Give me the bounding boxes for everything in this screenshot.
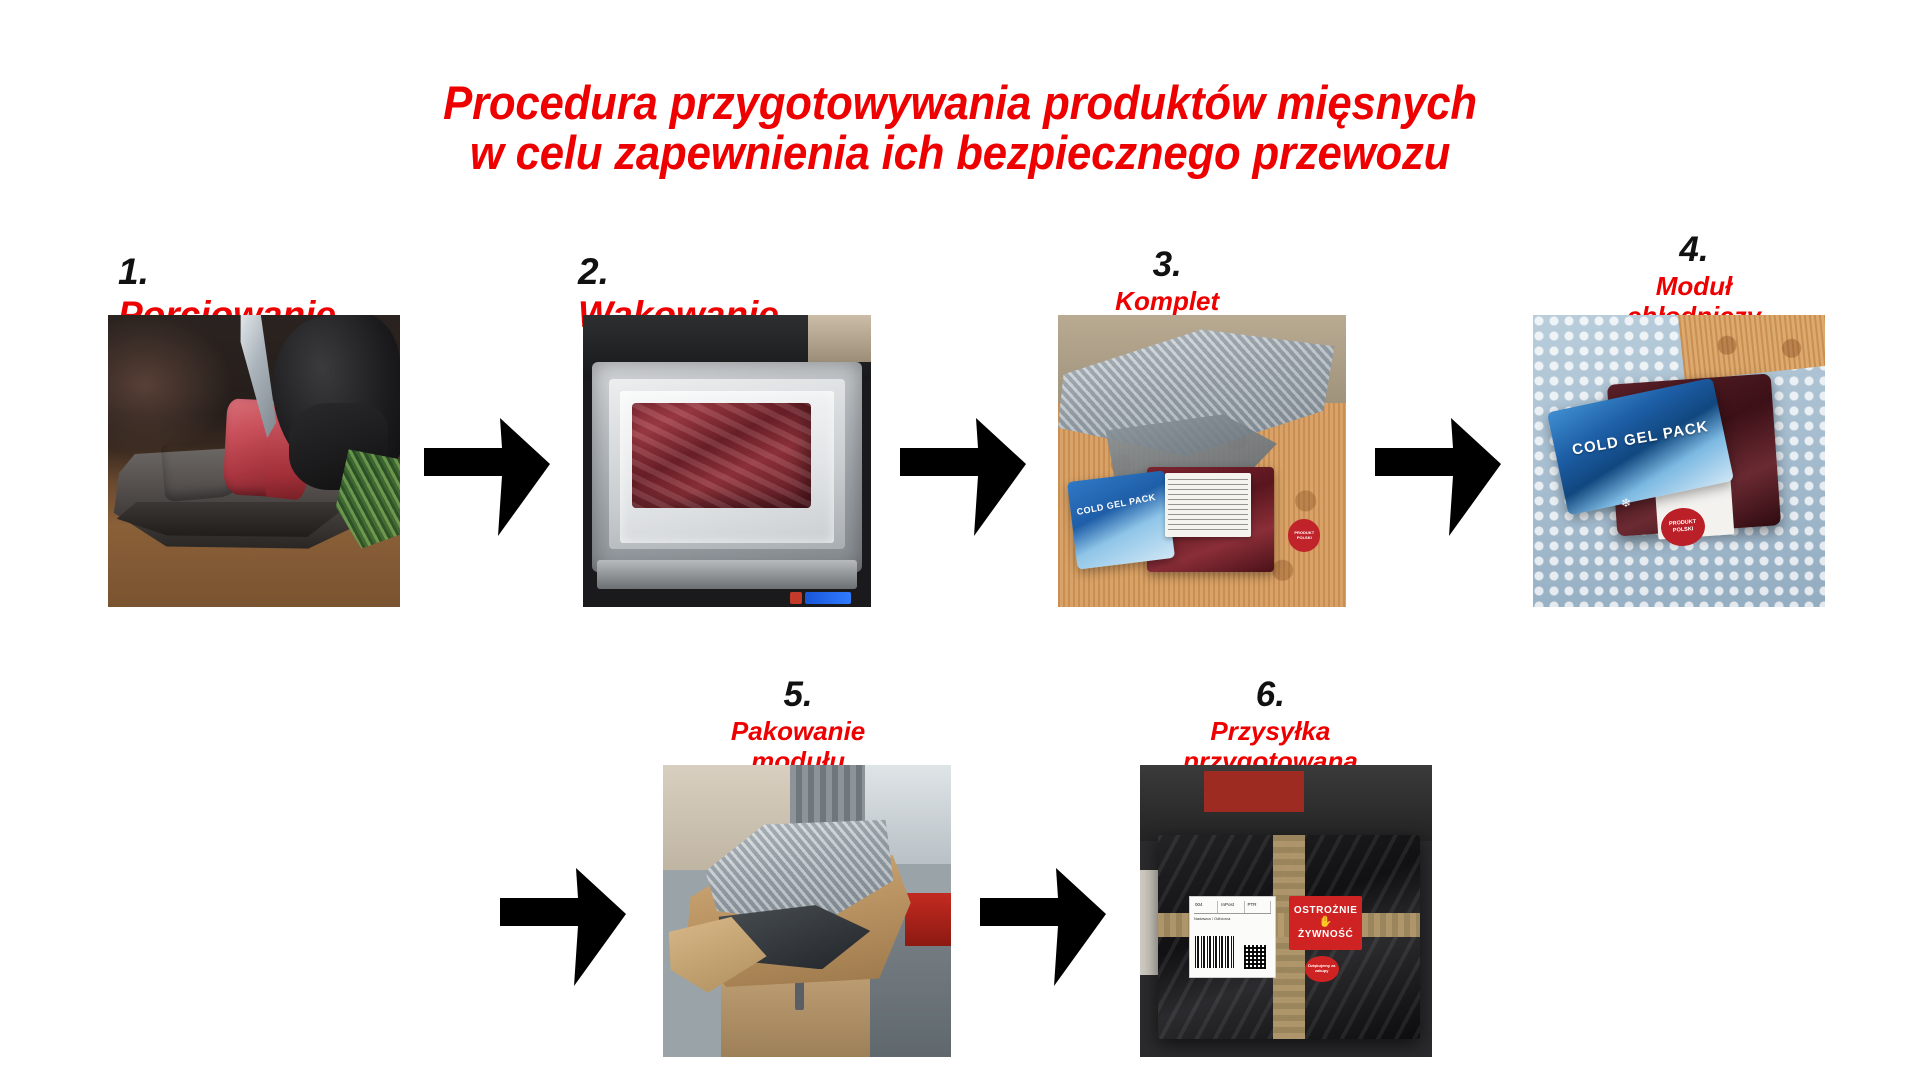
- step-3-number: 3.: [1153, 245, 1182, 284]
- label-address-block: Nadawca / Odbiorca: [1194, 914, 1271, 933]
- arrow-step-2-to-3: [900, 418, 1026, 538]
- infographic-page: Procedura przygotowywania produktów mięs…: [0, 0, 1920, 1080]
- step-5-photo: [663, 765, 951, 1057]
- thank-you-sticker: Dziękujemy za zakupy: [1305, 956, 1339, 983]
- title-line-1: Procedura przygotowywania produktów mięs…: [67, 78, 1853, 128]
- step-1-number: 1.: [118, 251, 149, 292]
- title-line-2: w celu zapewnienia ich bezpiecznego prze…: [67, 128, 1853, 178]
- step-6-number: 6.: [1256, 675, 1285, 714]
- cold-gel-pack-text: COLD GEL PACK: [1571, 418, 1710, 459]
- step-5-number: 5.: [783, 675, 812, 714]
- shipping-label: 004 InPost PTR Nadawca / Odbiorca: [1189, 896, 1276, 978]
- qr-code: [1244, 945, 1266, 969]
- photo-cooling-module-in-use: COLD GEL PACK ❄ PRODUKT POLSKI: [1533, 315, 1825, 607]
- photo-packing-box: [663, 765, 951, 1057]
- arrow-step-4-to-5: [500, 868, 626, 988]
- step-4-number: 4.: [1679, 230, 1708, 269]
- hand-icon: ✋: [1319, 917, 1333, 928]
- cold-gel-pack-text-small: COLD GEL PACK: [1076, 491, 1157, 516]
- snowflake-icon: ❄: [1620, 496, 1631, 510]
- label-cell-service: PTR: [1247, 901, 1271, 913]
- warning-top-text: OSTROŻNIE: [1294, 905, 1358, 916]
- step-3-photo: COLD GEL PACK PRODUKT POLSKI: [1058, 315, 1346, 607]
- photo-cooling-module-set: COLD GEL PACK PRODUKT POLSKI: [1058, 315, 1346, 607]
- barcode: [1195, 936, 1234, 968]
- label-cell-code: 004: [1194, 901, 1218, 913]
- photo-ready-parcel: 004 InPost PTR Nadawca / Odbiorca OSTROŻ…: [1140, 765, 1432, 1057]
- food-warning-sticker: OSTROŻNIE ✋ ŻYWNOŚĆ: [1289, 896, 1363, 949]
- step-1-photo: [108, 315, 400, 607]
- arrow-step-1-to-2: [424, 418, 550, 538]
- step-6-photo: 004 InPost PTR Nadawca / Odbiorca OSTROŻ…: [1140, 765, 1432, 1057]
- arrow-step-5-to-6: [980, 868, 1106, 988]
- produkt-polski-seal-small: PRODUKT POLSKI: [1288, 519, 1320, 551]
- photo-vacuum-sealing: [583, 315, 871, 607]
- step-2-number: 2.: [578, 251, 609, 292]
- step-2-photo: [583, 315, 871, 607]
- page-title: Procedura przygotowywania produktów mięs…: [67, 78, 1853, 178]
- arrow-step-3-to-4: [1375, 418, 1501, 538]
- label-cell-carrier: InPost: [1220, 901, 1244, 913]
- photo-meat-cutting: [108, 315, 400, 607]
- step-4-photo: COLD GEL PACK ❄ PRODUKT POLSKI: [1533, 315, 1825, 607]
- warning-bottom-text: ŻYWNOŚĆ: [1298, 929, 1353, 940]
